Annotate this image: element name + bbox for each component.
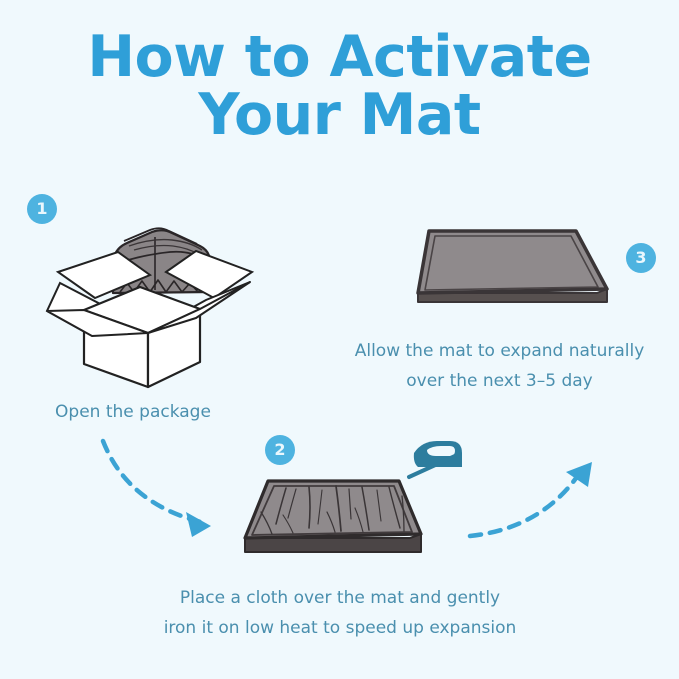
step-badge-2: 2 — [265, 435, 295, 465]
step-1-caption: Open the package — [0, 397, 266, 427]
step-3-caption: Allow the mat to expand naturally over t… — [320, 336, 679, 396]
step-badge-3: 3 — [626, 243, 656, 273]
infographic-canvas: How to Activate Your Mat — [0, 0, 679, 679]
arrow-step1-to-step2 — [103, 441, 211, 537]
step-3-caption-line-1: Allow the mat to expand naturally — [320, 336, 679, 366]
arrow-step2-to-step3 — [470, 462, 592, 536]
step-1-caption-line-1: Open the package — [0, 397, 266, 427]
step-3-caption-line-2: over the next 3–5 day — [320, 366, 679, 396]
iron-icon — [409, 441, 462, 477]
box-illustration — [47, 228, 252, 387]
step-2-caption-line-2: iron it on low heat to speed up expansio… — [90, 613, 590, 643]
flat-mat-illustration — [418, 231, 607, 302]
step-2-caption: Place a cloth over the mat and gently ir… — [90, 583, 590, 643]
step-2-caption-line-1: Place a cloth over the mat and gently — [90, 583, 590, 613]
cloth-mat-illustration — [245, 481, 421, 552]
step-badge-1: 1 — [27, 194, 57, 224]
